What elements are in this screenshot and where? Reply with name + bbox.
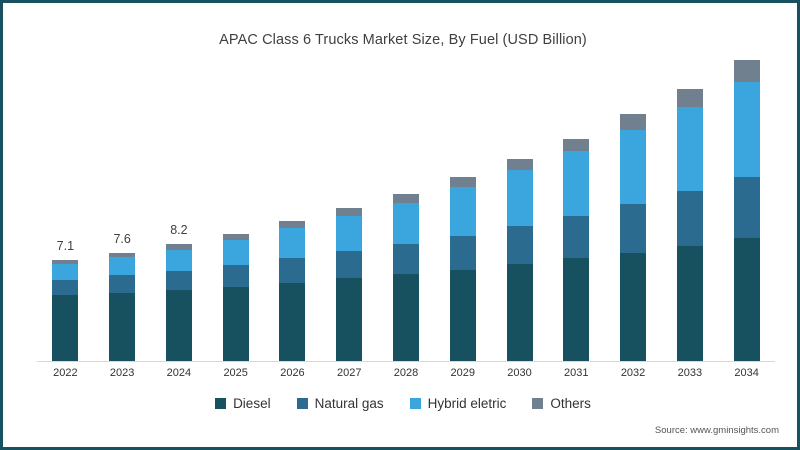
bar-segment-diesel[interactable] — [223, 287, 249, 361]
x-axis-tick-2024: 2024 — [149, 367, 209, 379]
bar-segment-natural-gas[interactable] — [734, 177, 760, 238]
bar-stack — [336, 208, 362, 361]
bar-segment-natural-gas[interactable] — [336, 251, 362, 278]
bar-segment-diesel[interactable] — [450, 270, 476, 361]
x-axis-tick-2023: 2023 — [92, 367, 152, 379]
bar-stack — [166, 244, 192, 361]
bar-stack — [734, 60, 760, 361]
bar-segment-diesel[interactable] — [52, 295, 78, 361]
bar-segment-diesel[interactable] — [109, 293, 135, 361]
bar-value-label: 7.6 — [92, 232, 152, 246]
bar-column[interactable] — [279, 53, 305, 361]
bar-segment-others[interactable] — [620, 114, 646, 130]
bar-segment-natural-gas[interactable] — [450, 236, 476, 270]
bar-segment-diesel[interactable] — [620, 253, 646, 361]
bar-segment-natural-gas[interactable] — [563, 216, 589, 259]
legend-item-others[interactable]: Others — [532, 396, 591, 411]
legend-label: Diesel — [233, 396, 271, 411]
bar-stack — [450, 177, 476, 361]
bar-segment-others[interactable] — [507, 159, 533, 170]
legend-swatch-icon — [297, 398, 308, 409]
bar-segment-hybrid-eletric[interactable] — [166, 250, 192, 271]
bar-segment-diesel[interactable] — [507, 264, 533, 361]
bar-segment-diesel[interactable] — [336, 278, 362, 361]
x-axis-tick-2022: 2022 — [35, 367, 95, 379]
bar-segment-hybrid-eletric[interactable] — [563, 151, 589, 215]
bar-segment-hybrid-eletric[interactable] — [393, 203, 419, 244]
bar-segment-natural-gas[interactable] — [279, 258, 305, 282]
bar-stack — [52, 260, 78, 361]
bar-segment-diesel[interactable] — [166, 290, 192, 361]
bar-stack — [620, 114, 646, 361]
legend-item-natural-gas[interactable]: Natural gas — [297, 396, 384, 411]
bar-value-label: 7.1 — [35, 239, 95, 253]
bar-segment-hybrid-eletric[interactable] — [279, 228, 305, 258]
x-axis-tick-2031: 2031 — [546, 367, 606, 379]
legend-label: Hybrid eletric — [428, 396, 507, 411]
x-axis-tick-2025: 2025 — [206, 367, 266, 379]
bar-segment-hybrid-eletric[interactable] — [223, 240, 249, 266]
bar-stack — [279, 221, 305, 361]
legend-item-diesel[interactable]: Diesel — [215, 396, 271, 411]
x-axis-tick-2032: 2032 — [603, 367, 663, 379]
legend-swatch-icon — [532, 398, 543, 409]
bar-segment-hybrid-eletric[interactable] — [52, 264, 78, 280]
bar-segment-hybrid-eletric[interactable] — [620, 130, 646, 204]
bar-column[interactable] — [677, 53, 703, 361]
bar-segment-others[interactable] — [279, 221, 305, 228]
bar-segment-others[interactable] — [336, 208, 362, 215]
bar-segment-natural-gas[interactable] — [620, 204, 646, 252]
bar-segment-natural-gas[interactable] — [52, 280, 78, 296]
bar-segment-hybrid-eletric[interactable] — [450, 187, 476, 235]
bar-column[interactable] — [336, 53, 362, 361]
bar-column[interactable] — [563, 53, 589, 361]
x-axis-tick-2029: 2029 — [433, 367, 493, 379]
bar-segment-natural-gas[interactable] — [166, 271, 192, 290]
bar-column[interactable] — [393, 53, 419, 361]
chart-legend: DieselNatural gasHybrid eletricOthers — [3, 396, 800, 411]
source-attribution: Source: www.gminsights.com — [655, 425, 779, 436]
legend-swatch-icon — [215, 398, 226, 409]
legend-swatch-icon — [410, 398, 421, 409]
bar-stack — [109, 253, 135, 361]
bar-segment-hybrid-eletric[interactable] — [734, 82, 760, 178]
bar-column[interactable]: 7.6 — [109, 53, 135, 361]
bar-column[interactable]: 7.1 — [52, 53, 78, 361]
bar-segment-natural-gas[interactable] — [507, 226, 533, 265]
chart-container: APAC Class 6 Trucks Market Size, By Fuel… — [0, 0, 800, 450]
plot-area: 7.17.68.2 — [37, 53, 775, 361]
bar-column[interactable] — [450, 53, 476, 361]
bar-stack — [563, 139, 589, 361]
bar-stack — [677, 89, 703, 361]
bar-segment-diesel[interactable] — [393, 274, 419, 361]
bar-segment-hybrid-eletric[interactable] — [336, 216, 362, 252]
bar-segment-diesel[interactable] — [279, 283, 305, 361]
bar-segment-natural-gas[interactable] — [393, 244, 419, 274]
bar-segment-natural-gas[interactable] — [109, 275, 135, 292]
bar-column[interactable] — [507, 53, 533, 361]
bar-segment-others[interactable] — [734, 60, 760, 81]
bar-column[interactable]: 8.2 — [166, 53, 192, 361]
bar-segment-others[interactable] — [393, 194, 419, 203]
chart-title: APAC Class 6 Trucks Market Size, By Fuel… — [3, 32, 800, 48]
x-axis-tick-2033: 2033 — [660, 367, 720, 379]
legend-label: Natural gas — [315, 396, 384, 411]
bar-segment-hybrid-eletric[interactable] — [677, 107, 703, 191]
bar-stack — [393, 194, 419, 361]
x-axis-tick-2030: 2030 — [490, 367, 550, 379]
x-axis-tick-2028: 2028 — [376, 367, 436, 379]
x-axis-baseline — [37, 361, 775, 362]
bar-segment-hybrid-eletric[interactable] — [507, 170, 533, 226]
bar-stack — [507, 159, 533, 361]
x-axis-tick-2034: 2034 — [717, 367, 777, 379]
bar-segment-others[interactable] — [677, 89, 703, 108]
x-axis-tick-2027: 2027 — [319, 367, 379, 379]
bar-segment-hybrid-eletric[interactable] — [109, 257, 135, 276]
bar-segment-diesel[interactable] — [734, 238, 760, 361]
bar-segment-natural-gas[interactable] — [223, 265, 249, 286]
bar-stack — [223, 234, 249, 361]
bar-value-label: 8.2 — [149, 223, 209, 237]
bar-segment-others[interactable] — [563, 139, 589, 152]
legend-label: Others — [550, 396, 591, 411]
legend-item-hybrid-eletric[interactable]: Hybrid eletric — [410, 396, 507, 411]
x-axis-tick-2026: 2026 — [262, 367, 322, 379]
bar-segment-others[interactable] — [450, 177, 476, 187]
bar-segment-natural-gas[interactable] — [677, 191, 703, 245]
bar-segment-diesel[interactable] — [677, 246, 703, 362]
bar-segment-diesel[interactable] — [563, 258, 589, 361]
bar-column[interactable] — [620, 53, 646, 361]
bar-column[interactable] — [223, 53, 249, 361]
bar-column[interactable] — [734, 53, 760, 361]
